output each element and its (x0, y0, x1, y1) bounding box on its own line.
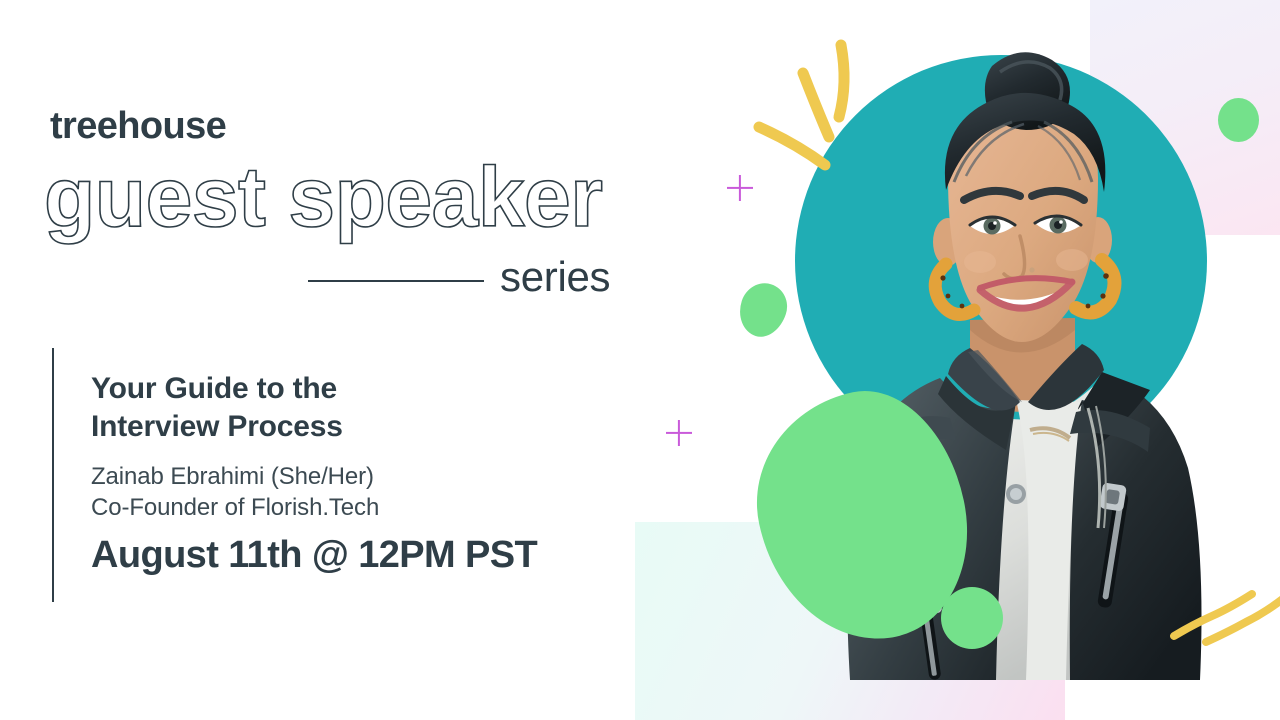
green-circle-bottom-shape (941, 587, 1003, 649)
series-row: series (300, 254, 630, 304)
plus-mark-upper-icon (727, 175, 753, 201)
speaker-role: Co-Founder of Florish.Tech (91, 492, 379, 524)
green-circle-top-shape (1218, 98, 1259, 142)
brand-wordmark: treehouse (50, 107, 226, 145)
session-title-line-1: Your Guide to the (91, 370, 511, 408)
vertical-accent-rule (52, 348, 54, 602)
text-column: treehouse guest speaker series Your Guid… (0, 0, 680, 720)
promo-banner: treehouse guest speaker series Your Guid… (0, 0, 1280, 720)
event-datetime: August 11th @ 12PM PST (91, 534, 537, 578)
session-title: Your Guide to the Interview Process (91, 370, 511, 447)
series-divider (308, 280, 484, 282)
session-title-line-2: Interview Process (91, 408, 511, 446)
page-title: guest speaker (44, 155, 602, 239)
green-blob-small-shape (733, 277, 793, 343)
series-label: series (500, 254, 610, 299)
speaker-name: Zainab Ebrahimi (She/Her) (91, 461, 374, 493)
